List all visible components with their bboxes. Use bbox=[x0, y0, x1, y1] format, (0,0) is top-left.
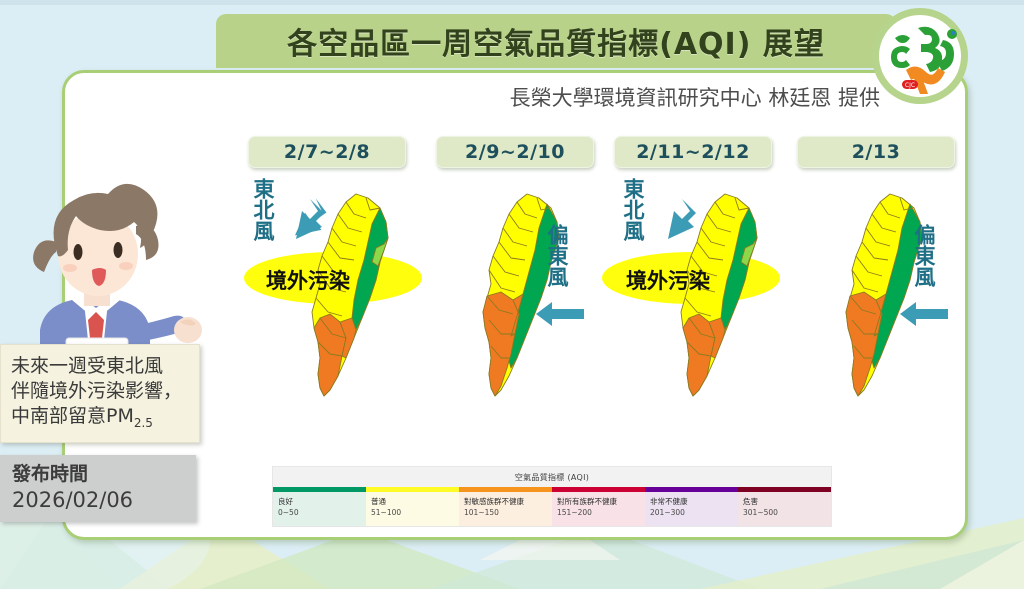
release-time-label: 發布時間 bbox=[12, 463, 186, 487]
date-chip-label-2: 2/11~2/12 bbox=[636, 141, 750, 163]
aqi-legend-name-0: 良好 bbox=[278, 496, 361, 507]
aqi-legend-name-4: 非常不健康 bbox=[650, 496, 733, 507]
release-time-box: 發布時間 2026/02/06 bbox=[0, 455, 196, 522]
aqi-legend: 空氣品質指標 (AQI) 良好 0~50 普通 51~100 對敏感族群不健康 … bbox=[272, 466, 832, 527]
aqi-legend-name-2: 對敏感族群不健康 bbox=[464, 496, 547, 507]
aqi-legend-body-5: 危害 301~500 bbox=[738, 492, 831, 526]
aqi-legend-cell-3: 對所有族群不健康 151~200 bbox=[552, 487, 645, 526]
aqi-legend-name-5: 危害 bbox=[743, 496, 826, 507]
pollution-label-2: 境外污染 bbox=[626, 265, 710, 295]
date-chip-label-3: 2/13 bbox=[852, 141, 901, 163]
wind-label-2: 東北風 bbox=[622, 178, 643, 241]
aqi-legend-range-4: 201~300 bbox=[650, 507, 733, 518]
aqi-legend-cell-5: 危害 301~500 bbox=[738, 487, 831, 526]
aqi-legend-range-5: 301~500 bbox=[743, 507, 826, 518]
wind-arrow-left-1 bbox=[534, 298, 586, 334]
aqi-legend-body-4: 非常不健康 201~300 bbox=[645, 492, 738, 526]
date-chip-label-1: 2/9~2/10 bbox=[465, 141, 565, 163]
wind-arrow-left-3 bbox=[898, 298, 950, 334]
summary-subscript: 2.5 bbox=[134, 416, 153, 430]
date-chip-0[interactable]: 2/7~2/8 bbox=[248, 136, 406, 168]
aqi-legend-title: 空氣品質指標 (AQI) bbox=[273, 467, 831, 487]
wind-label-1: 偏東風 bbox=[546, 224, 567, 287]
date-chip-3[interactable]: 2/13 bbox=[797, 136, 955, 168]
summary-line-2-text: 中南部留意PM bbox=[11, 405, 134, 427]
page-subtitle: 長榮大學環境資訊研究中心 林廷恩 提供 bbox=[430, 80, 880, 114]
aqi-legend-body-1: 普通 51~100 bbox=[366, 492, 459, 526]
aqi-legend-range-2: 101~150 bbox=[464, 507, 547, 518]
summary-line-2: 中南部留意PM2.5 bbox=[11, 404, 189, 432]
aqi-legend-cell-1: 普通 51~100 bbox=[366, 487, 459, 526]
wind-arrow-down-left-2 bbox=[654, 195, 702, 261]
aqi-legend-cell-4: 非常不健康 201~300 bbox=[645, 487, 738, 526]
page-title: 各空品區一周空氣品質指標(AQI) 展望 bbox=[287, 19, 825, 63]
aqi-legend-name-3: 對所有族群不健康 bbox=[557, 496, 640, 507]
svg-text:CJC: CJC bbox=[905, 82, 915, 89]
title-banner: 各空品區一周空氣品質指標(AQI) 展望 bbox=[216, 14, 896, 68]
pollution-label-0: 境外污染 bbox=[266, 265, 350, 295]
aqi-legend-range-0: 0~50 bbox=[278, 507, 361, 518]
wind-label-0: 東北風 bbox=[252, 178, 273, 241]
date-chip-row: 2/7~2/8 2/9~2/10 2/11~2/12 2/13 bbox=[248, 136, 960, 170]
release-time-value: 2026/02/06 bbox=[12, 487, 186, 513]
date-chip-2[interactable]: 2/11~2/12 bbox=[614, 136, 772, 168]
aqi-legend-body-0: 良好 0~50 bbox=[273, 492, 366, 526]
aqi-legend-range-3: 151~200 bbox=[557, 507, 640, 518]
aqi-legend-range-1: 51~100 bbox=[371, 507, 454, 518]
date-chip-label-0: 2/7~2/8 bbox=[284, 141, 370, 163]
aqi-legend-cell-2: 對敏感族群不健康 101~150 bbox=[459, 487, 552, 526]
summary-line-1: 伴隨境外污染影響， bbox=[11, 379, 189, 404]
summary-line-0: 未來一週受東北風 bbox=[11, 354, 189, 379]
wind-arrow-down-left-0 bbox=[282, 195, 330, 261]
aqi-legend-body-3: 對所有族群不健康 151~200 bbox=[552, 492, 645, 526]
wind-label-3: 偏東風 bbox=[913, 224, 934, 287]
date-chip-1[interactable]: 2/9~2/10 bbox=[436, 136, 594, 168]
aqi-legend-name-1: 普通 bbox=[371, 496, 454, 507]
csu-eric-logo: CJC bbox=[868, 6, 972, 106]
forecast-summary-box: 未來一週受東北風 伴隨境外污染影響， 中南部留意PM2.5 bbox=[0, 344, 200, 443]
aqi-legend-body-2: 對敏感族群不健康 101~150 bbox=[459, 492, 552, 526]
aqi-legend-cell-0: 良好 0~50 bbox=[273, 487, 366, 526]
aqi-legend-bars: 良好 0~50 普通 51~100 對敏感族群不健康 101~150 對所有族群… bbox=[273, 487, 831, 526]
